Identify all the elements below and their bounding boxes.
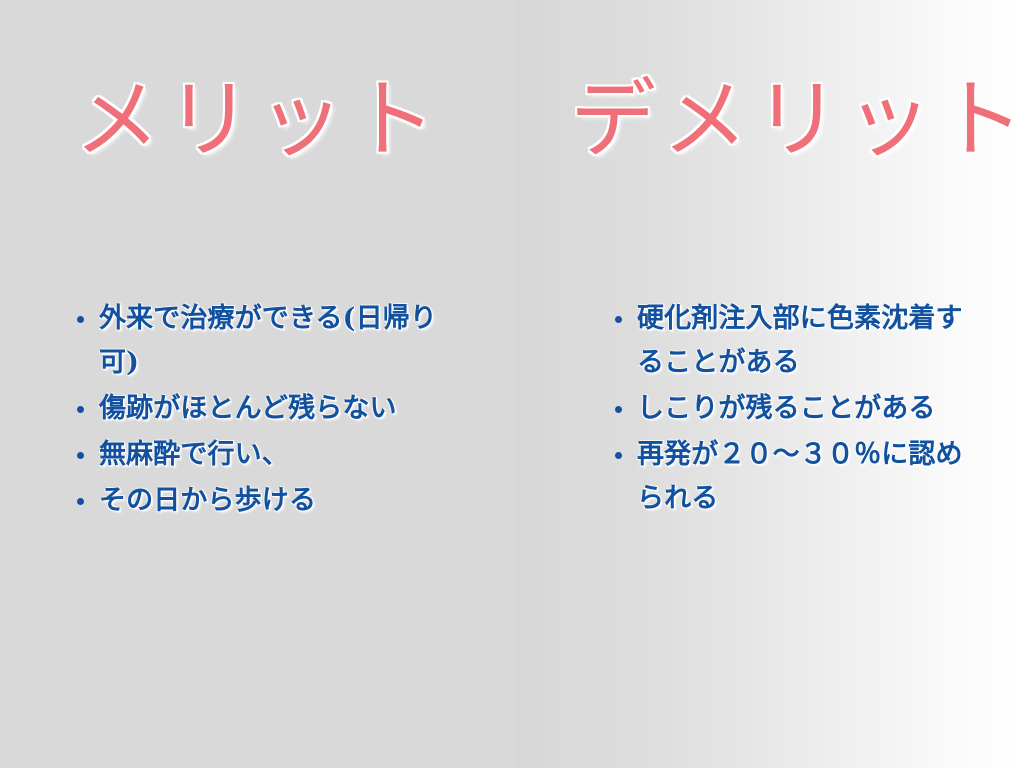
list-item-label: 再発が２０〜３０％に認められる — [637, 433, 980, 521]
bullet-dot-icon — [615, 452, 622, 459]
bullet-dot-icon — [615, 316, 622, 323]
bullet-dot-icon — [77, 406, 84, 413]
list-item: 傷跡がほとんど残らない — [74, 387, 456, 431]
slide-canvas: メリット 外来で治療ができる(日帰り可) 傷跡がほとんど残らない 無麻酔で行い、… — [0, 0, 1024, 768]
list-item-label: 外来で治療ができる(日帰り可) — [99, 297, 456, 385]
list-item-label: 無麻酔で行い、 — [99, 433, 456, 477]
merit-bullet-list: 外来で治療ができる(日帰り可) 傷跡がほとんど残らない 無麻酔で行い、 その日か… — [74, 297, 456, 525]
merit-heading: メリット — [0, 64, 570, 176]
list-item-label: その日から歩ける — [99, 479, 456, 523]
list-item: その日から歩ける — [74, 479, 456, 523]
demerit-bullet-list: 硬化剤注入部に色素沈着することがある しこりが残ることがある 再発が２０〜３０％… — [612, 297, 980, 523]
bullet-dot-icon — [77, 498, 84, 505]
list-item: 無麻酔で行い、 — [74, 433, 456, 477]
merit-column: メリット 外来で治療ができる(日帰り可) 傷跡がほとんど残らない 無麻酔で行い、… — [0, 0, 516, 768]
list-item-label: しこりが残ることがある — [637, 387, 980, 431]
bullet-dot-icon — [77, 452, 84, 459]
list-item: 硬化剤注入部に色素沈着することがある — [612, 297, 980, 385]
list-item-label: 傷跡がほとんど残らない — [99, 387, 456, 431]
list-item: 再発が２０〜３０％に認められる — [612, 433, 980, 521]
bullet-dot-icon — [77, 316, 84, 323]
bullet-dot-icon — [615, 406, 622, 413]
list-item-label: 硬化剤注入部に色素沈着することがある — [637, 297, 980, 385]
list-item: しこりが残ることがある — [612, 387, 980, 431]
list-item: 外来で治療ができる(日帰り可) — [74, 297, 456, 385]
demerit-heading: デメリット — [516, 64, 1024, 176]
demerit-column: デメリット 硬化剤注入部に色素沈着することがある しこりが残ることがある 再発が… — [516, 0, 1024, 768]
